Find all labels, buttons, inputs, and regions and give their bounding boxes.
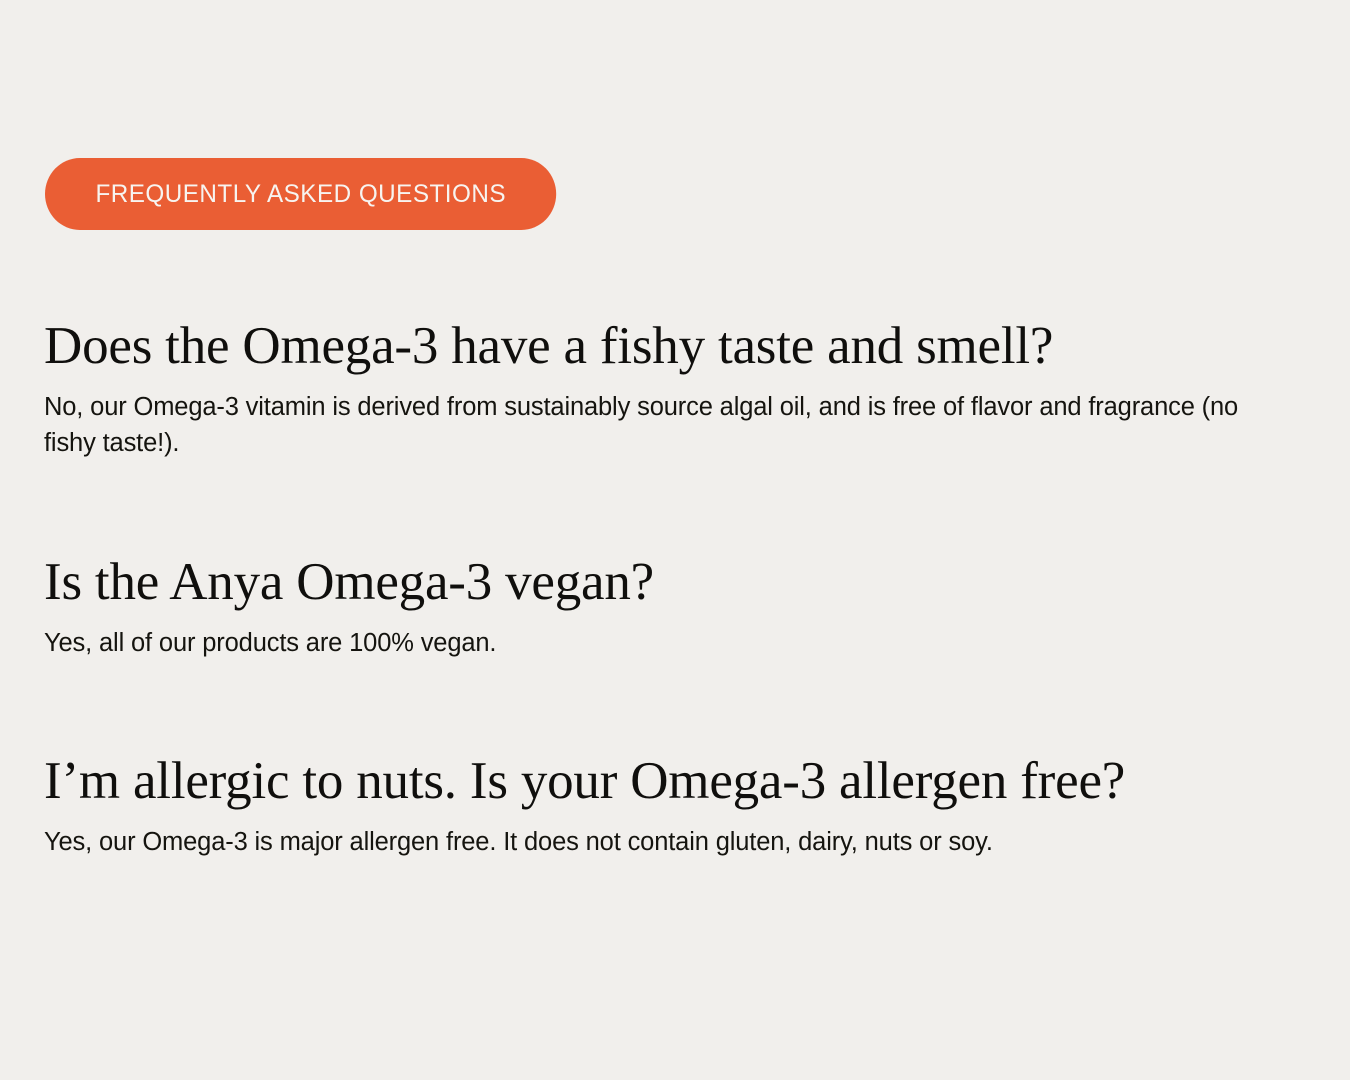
faq-section-badge: FREQUENTLY ASKED QUESTIONS bbox=[45, 158, 556, 230]
faq-question[interactable]: Is the Anya Omega-3 vegan? bbox=[44, 554, 1289, 611]
faq-question[interactable]: Does the Omega-3 have a fishy taste and … bbox=[44, 318, 1289, 375]
section-badge-container: FREQUENTLY ASKED QUESTIONS bbox=[45, 158, 572, 230]
faq-list: Does the Omega-3 have a fishy taste and … bbox=[44, 318, 1289, 861]
faq-question[interactable]: I’m allergic to nuts. Is your Omega-3 al… bbox=[44, 753, 1289, 810]
faq-item[interactable]: Is the Anya Omega-3 vegan? Yes, all of o… bbox=[44, 554, 1289, 661]
faq-item[interactable]: I’m allergic to nuts. Is your Omega-3 al… bbox=[44, 753, 1289, 860]
faq-answer: Yes, all of our products are 100% vegan. bbox=[44, 625, 1269, 661]
faq-answer: No, our Omega-3 vitamin is derived from … bbox=[44, 389, 1269, 461]
faq-item[interactable]: Does the Omega-3 have a fishy taste and … bbox=[44, 318, 1289, 462]
faq-section: FREQUENTLY ASKED QUESTIONS Does the Omeg… bbox=[0, 0, 1350, 1080]
faq-answer: Yes, our Omega-3 is major allergen free.… bbox=[44, 824, 1269, 860]
